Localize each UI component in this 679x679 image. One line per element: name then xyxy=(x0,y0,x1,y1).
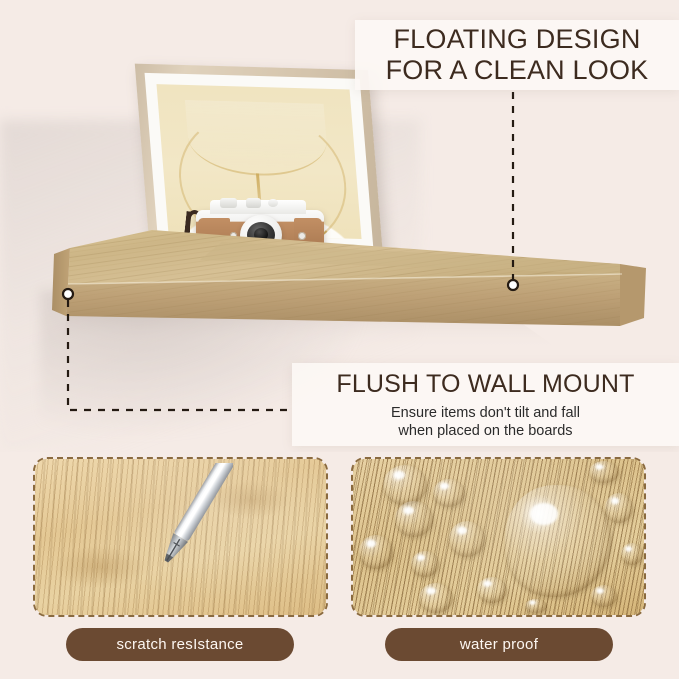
panel-water-proof xyxy=(351,457,646,617)
panel-sheen xyxy=(35,459,326,615)
pill-water-proof[interactable]: water proof xyxy=(385,628,613,661)
product-infographic: FLOATING DESIGN FOR A CLEAN LOOK FLUSH T… xyxy=(0,0,679,679)
panel-scratch-resistance xyxy=(33,457,328,617)
panel-sheen xyxy=(353,459,644,615)
callout-floating-headline-line1: FLOATING DESIGN xyxy=(393,24,640,55)
camera-dial-mid-icon xyxy=(246,198,261,208)
callout-floating-headline-line2: FOR A CLEAN LOOK xyxy=(386,55,649,86)
callout-flush-subline-line1: Ensure items don't tilt and fall xyxy=(391,404,580,422)
pill-scratch-resistance[interactable]: scratch resIstance xyxy=(66,628,294,661)
hero-scene: FLOATING DESIGN FOR A CLEAN LOOK FLUSH T… xyxy=(0,0,679,452)
camera-shutter-button-icon xyxy=(268,199,278,207)
callout-flush-headline: FLUSH TO WALL MOUNT xyxy=(336,369,634,400)
callout-floating-design: FLOATING DESIGN FOR A CLEAN LOOK xyxy=(355,20,679,90)
floating-shelf xyxy=(0,230,679,360)
feature-panels: scratch resIstance water proof xyxy=(0,452,679,679)
camera-dial-left-icon xyxy=(220,198,237,208)
callout-flush-to-wall-mount: FLUSH TO WALL MOUNT Ensure items don't t… xyxy=(292,363,679,446)
callout-flush-subline-line2: when placed on the boards xyxy=(398,422,572,440)
shelf-illustration xyxy=(0,230,679,360)
